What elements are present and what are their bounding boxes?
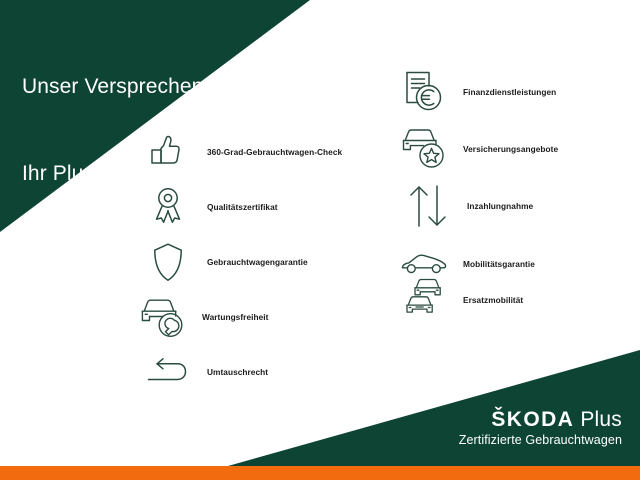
up-down-arrows-icon <box>400 180 456 232</box>
feature-item-insurance: Versicherungsangebote <box>396 123 558 175</box>
promo-banner: Unser Versprechen. Ihr Plus. 360-Grad-Ge… <box>0 0 640 480</box>
feature-label: Versicherungsangebote <box>452 144 558 154</box>
feature-item-maintenance-free: Wartungsfreiheit <box>135 291 268 343</box>
feature-label: 360-Grad-Gebrauchtwagen-Check <box>196 147 342 157</box>
feature-item-quality-certificate: Qualitätszertifikat <box>140 181 278 233</box>
feature-label: Gebrauchtwagengarantie <box>196 257 308 267</box>
feature-item-warranty: Gebrauchtwagengarantie <box>140 236 308 288</box>
car-wrench-icon <box>135 291 191 343</box>
logo-brand-text: ŠKODA <box>491 408 574 431</box>
feature-label: Inzahlungnahme <box>456 201 533 211</box>
feature-item-financial-services: Finanzdienstleistungen <box>396 66 556 118</box>
skoda-plus-logo: ŠKODA Plus Zertifizierte Gebrauchtwagen <box>459 408 622 448</box>
logo-primary-line: ŠKODA Plus <box>459 408 622 431</box>
feature-item-return-right: Umtauschrecht <box>140 346 268 398</box>
two-cars-icon <box>396 276 452 324</box>
logo-suffix-text: Plus <box>580 408 622 431</box>
logo-tagline: Zertifizierte Gebrauchtwagen <box>459 432 622 448</box>
bottom-orange-bar <box>0 466 640 480</box>
feature-item-replacement-mobility: Ersatzmobilität <box>396 276 523 324</box>
feature-label: Qualitätszertifikat <box>196 202 278 212</box>
feature-label: Umtauschrecht <box>196 367 268 377</box>
document-euro-icon <box>396 66 452 118</box>
feature-item-trade-in: Inzahlungnahme <box>400 180 533 232</box>
return-arrow-icon <box>140 346 196 398</box>
thumbs-up-icon <box>140 126 196 178</box>
shield-icon <box>140 236 196 288</box>
award-rosette-icon <box>140 181 196 233</box>
headline-line-1: Unser Versprechen. <box>22 72 209 101</box>
feature-item-360-check: 360-Grad-Gebrauchtwagen-Check <box>140 126 342 178</box>
car-star-icon <box>396 123 452 175</box>
feature-label: Mobilitätsgarantie <box>452 259 535 269</box>
feature-label: Finanzdienstleistungen <box>452 87 556 97</box>
feature-label: Ersatzmobilität <box>452 295 523 305</box>
feature-label: Wartungsfreiheit <box>191 312 268 322</box>
